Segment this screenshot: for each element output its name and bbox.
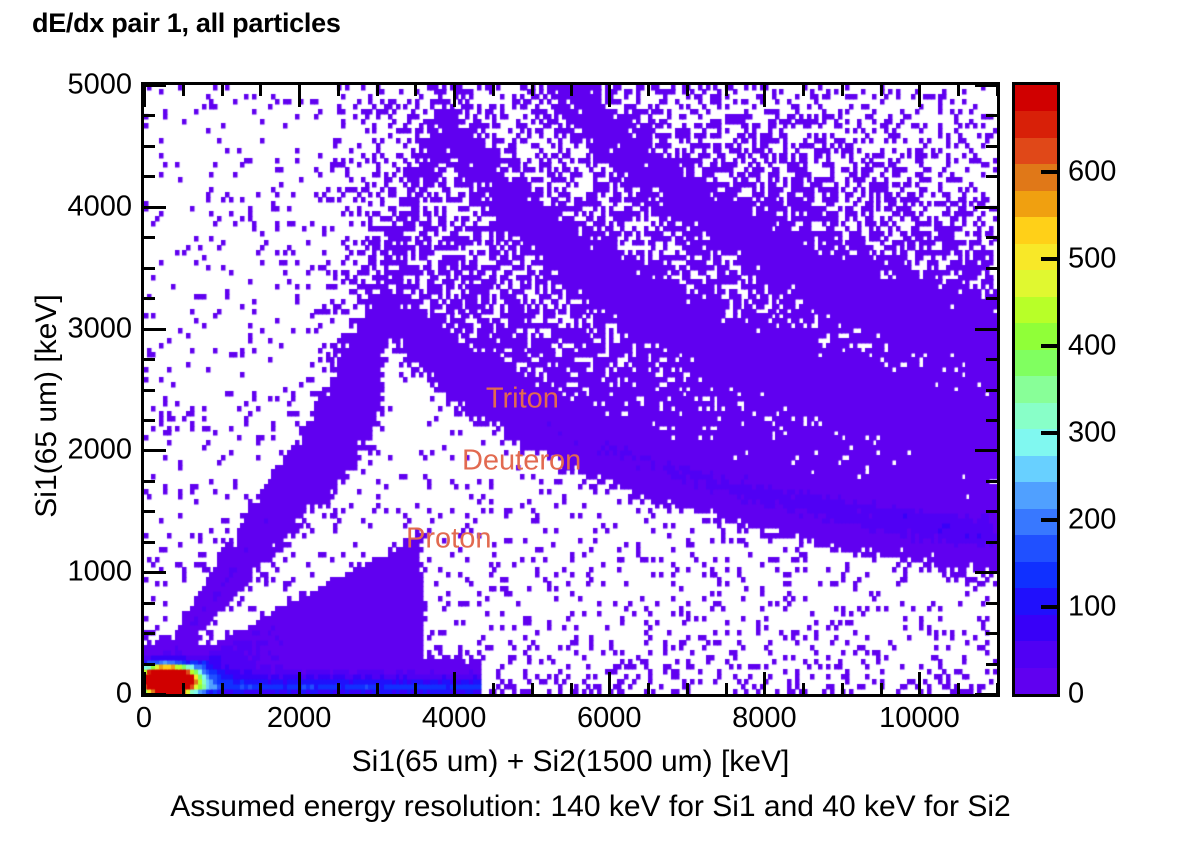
x-tick-label: 0 [136,702,152,735]
palette-tick [1041,605,1060,609]
x-tick-bottom [570,683,573,694]
x-tick-bottom [802,683,805,694]
y-tick-right [986,389,997,392]
palette-tick-label: 0 [1068,678,1084,711]
palette-band [1015,297,1057,323]
x-tick-bottom [259,683,262,694]
y-tick-left [144,236,155,239]
x-tick-label: 8000 [732,702,797,735]
y-tick-left [144,449,166,452]
y-tick-left [144,663,155,666]
x-tick-bottom [957,683,960,694]
palette-band [1015,641,1057,667]
figure-caption: Assumed energy resolution: 140 keV for S… [0,790,1181,824]
palette-tick [1041,257,1060,261]
x-tick-top [880,85,883,96]
y-axis-title: Si1(65 um) [keV] [30,126,64,686]
x-tick-top [570,85,573,96]
x-tick-bottom [414,683,417,694]
palette-tick-label: 600 [1068,156,1116,189]
page-title: dE/dx pair 1, all particles [32,8,341,39]
y-tick-left [144,297,155,300]
x-tick-top [763,85,766,107]
palette-band [1015,85,1057,111]
y-tick-right [986,297,997,300]
x-tick-bottom [337,683,340,694]
y-tick-right [986,236,997,239]
x-tick-bottom [143,672,146,694]
palette-band [1015,376,1057,402]
palette-tick-label: 200 [1068,504,1116,537]
x-tick-bottom [298,672,301,694]
y-tick-left [144,114,155,117]
y-tick-left [144,571,166,574]
palette-band [1015,138,1057,164]
x-tick-top [414,85,417,96]
y-tick-left [144,358,155,361]
band-label-deuteron: Deuteron [462,445,581,478]
y-tick-right [986,480,997,483]
x-tick-top [608,85,611,107]
y-tick-left [144,693,166,696]
y-tick-left [144,389,155,392]
x-tick-bottom [608,672,611,694]
y-tick-right [986,419,997,422]
plot-frame [141,82,1000,697]
x-tick-top [221,85,224,96]
x-tick-bottom [531,683,534,694]
x-tick-bottom [918,672,921,694]
y-tick-right [986,541,997,544]
palette-band [1015,668,1057,694]
x-tick-bottom [880,683,883,694]
y-tick-right [975,571,997,574]
x-tick-top [337,85,340,96]
y-tick-label: 3000 [67,312,132,345]
y-tick-right [975,206,997,209]
heatmap-canvas [144,85,997,694]
palette-band [1015,403,1057,429]
x-tick-top [453,85,456,107]
palette-band [1015,535,1057,561]
y-tick-right [986,632,997,635]
palette-band [1015,270,1057,296]
x-tick-label: 6000 [577,702,642,735]
palette-tick [1041,431,1060,435]
x-tick-bottom [841,683,844,694]
y-tick-right [975,84,997,87]
band-label-proton: Proton [406,523,491,556]
histogram-surface [144,85,997,694]
x-tick-label: 4000 [422,702,487,735]
y-tick-right [986,175,997,178]
y-tick-left [144,541,155,544]
palette-tick-label: 300 [1068,417,1116,450]
x-tick-top [298,85,301,107]
y-tick-left [144,602,155,605]
palette-band [1015,350,1057,376]
y-tick-left [144,84,166,87]
x-tick-top [182,85,185,96]
y-tick-left [144,328,166,331]
palette-band [1015,217,1057,243]
y-tick-right [986,114,997,117]
x-tick-top [686,85,689,96]
y-tick-right [975,328,997,331]
x-tick-bottom [686,683,689,694]
palette-band [1015,111,1057,137]
y-tick-left [144,510,155,513]
palette-band [1015,562,1057,588]
x-tick-bottom [492,683,495,694]
x-tick-bottom [221,683,224,694]
y-tick-left [144,632,155,635]
x-tick-top [376,85,379,96]
x-tick-top [492,85,495,96]
y-tick-label: 2000 [67,434,132,467]
x-tick-top [143,85,146,107]
x-tick-top [841,85,844,96]
band-label-triton: Triton [486,383,559,416]
y-tick-right [986,663,997,666]
x-tick-top [802,85,805,96]
x-tick-top [531,85,534,96]
y-tick-left [144,145,155,148]
y-tick-label: 0 [116,678,132,711]
x-tick-bottom [453,672,456,694]
x-tick-bottom [647,683,650,694]
x-tick-top [957,85,960,96]
x-tick-bottom [376,683,379,694]
y-tick-right [986,602,997,605]
x-tick-label: 10000 [879,702,960,735]
y-tick-right [986,145,997,148]
x-tick-top [725,85,728,96]
x-tick-label: 2000 [267,702,332,735]
x-axis-title: Si1(65 um) + Si2(1500 um) [keV] [141,745,1000,779]
y-tick-left [144,267,155,270]
y-tick-right [975,449,997,452]
palette-band [1015,164,1057,190]
y-tick-right [975,693,997,696]
x-tick-top [259,85,262,96]
y-tick-left [144,480,155,483]
palette-tick-label: 400 [1068,330,1116,363]
y-tick-right [986,267,997,270]
palette-tick [1041,170,1060,174]
palette-tick [1041,518,1060,522]
palette-tick [1041,344,1060,348]
x-tick-top [647,85,650,96]
x-tick-top [918,85,921,107]
palette-band [1015,456,1057,482]
y-tick-right [986,510,997,513]
y-tick-left [144,206,166,209]
y-tick-label: 5000 [67,69,132,102]
y-tick-left [144,419,155,422]
y-tick-label: 4000 [67,190,132,223]
x-tick-bottom [182,683,185,694]
palette-tick-label: 100 [1068,591,1116,624]
palette-band [1015,191,1057,217]
palette-band [1015,615,1057,641]
y-tick-left [144,175,155,178]
palette-band [1015,588,1057,614]
y-tick-label: 1000 [67,556,132,589]
x-tick-bottom [763,672,766,694]
palette-tick-label: 500 [1068,243,1116,276]
x-tick-bottom [725,683,728,694]
y-tick-right [986,358,997,361]
palette-band [1015,482,1057,508]
